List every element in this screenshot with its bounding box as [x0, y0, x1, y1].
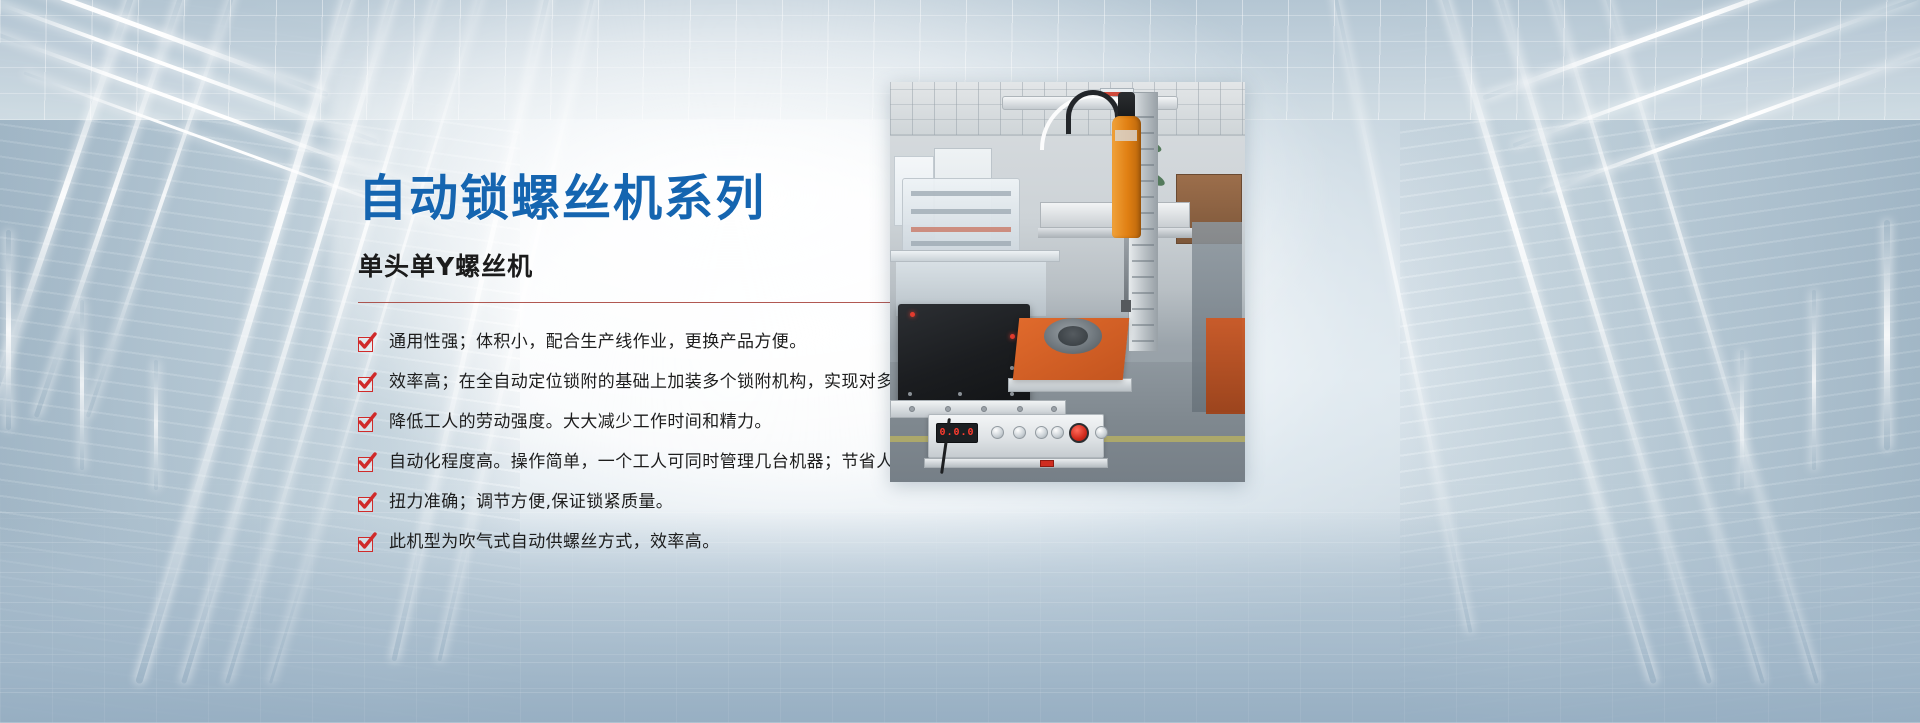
panel-button[interactable]: [1051, 426, 1064, 439]
photo-background-equipment: [902, 178, 1020, 256]
banner-content: 自动锁螺丝机系列 单头单Y螺丝机 通用性强；体积小，配合生产线作业，更换产品方便…: [0, 0, 1920, 723]
photo-bench-top: [890, 250, 1060, 262]
check-icon: [358, 537, 373, 552]
panel-display: 0.0.0: [936, 423, 978, 443]
screwdriver-bit: [1124, 238, 1128, 304]
panel-button[interactable]: [1095, 426, 1108, 439]
product-banner: 自动锁螺丝机系列 单头单Y螺丝机 通用性强；体积小，配合生产线作业，更换产品方便…: [0, 0, 1920, 723]
check-icon: [358, 337, 373, 352]
electric-screwdriver: [1112, 116, 1141, 238]
emergency-stop-button[interactable]: [1069, 423, 1089, 443]
feature-text: 扭力准确；调节方便,保证锁紧质量。: [389, 491, 673, 514]
control-panel[interactable]: 0.0.0: [928, 414, 1104, 458]
list-item: 此机型为吹气式自动供螺丝方式，效率高。: [358, 531, 1078, 554]
check-icon: [358, 497, 373, 512]
machine-tray: [1008, 378, 1132, 392]
feature-text: 降低工人的劳动强度。大大减少工作时间和精力。: [389, 411, 772, 434]
product-photo-image: 0.0.0: [890, 82, 1245, 482]
feature-text: 通用性强；体积小，配合生产线作业，更换产品方便。: [389, 331, 807, 354]
power-switch[interactable]: [1040, 460, 1054, 467]
panel-button[interactable]: [991, 426, 1004, 439]
machine-front-rail: [924, 458, 1108, 468]
feature-text: 自动化程度高。操作简单，一个工人可同时管理几台机器；节省人工。: [389, 451, 928, 474]
feature-text: 此机型为吹气式自动供螺丝方式，效率高。: [389, 531, 720, 554]
list-item: 扭力准确；调节方便,保证锁紧质量。: [358, 491, 1078, 514]
screwdriver-bit-tip: [1121, 300, 1131, 312]
panel-display-value: 0.0.0: [937, 427, 977, 438]
machine-right-fixture: [1206, 318, 1245, 414]
product-photo: 0.0.0: [890, 82, 1245, 482]
workpiece-center: [1058, 326, 1088, 346]
panel-button[interactable]: [1035, 426, 1048, 439]
screwdriver-label: [1115, 130, 1137, 141]
check-icon: [358, 457, 373, 472]
check-icon: [358, 417, 373, 432]
title-divider: [358, 302, 968, 303]
panel-button[interactable]: [1013, 426, 1026, 439]
check-icon: [358, 377, 373, 392]
